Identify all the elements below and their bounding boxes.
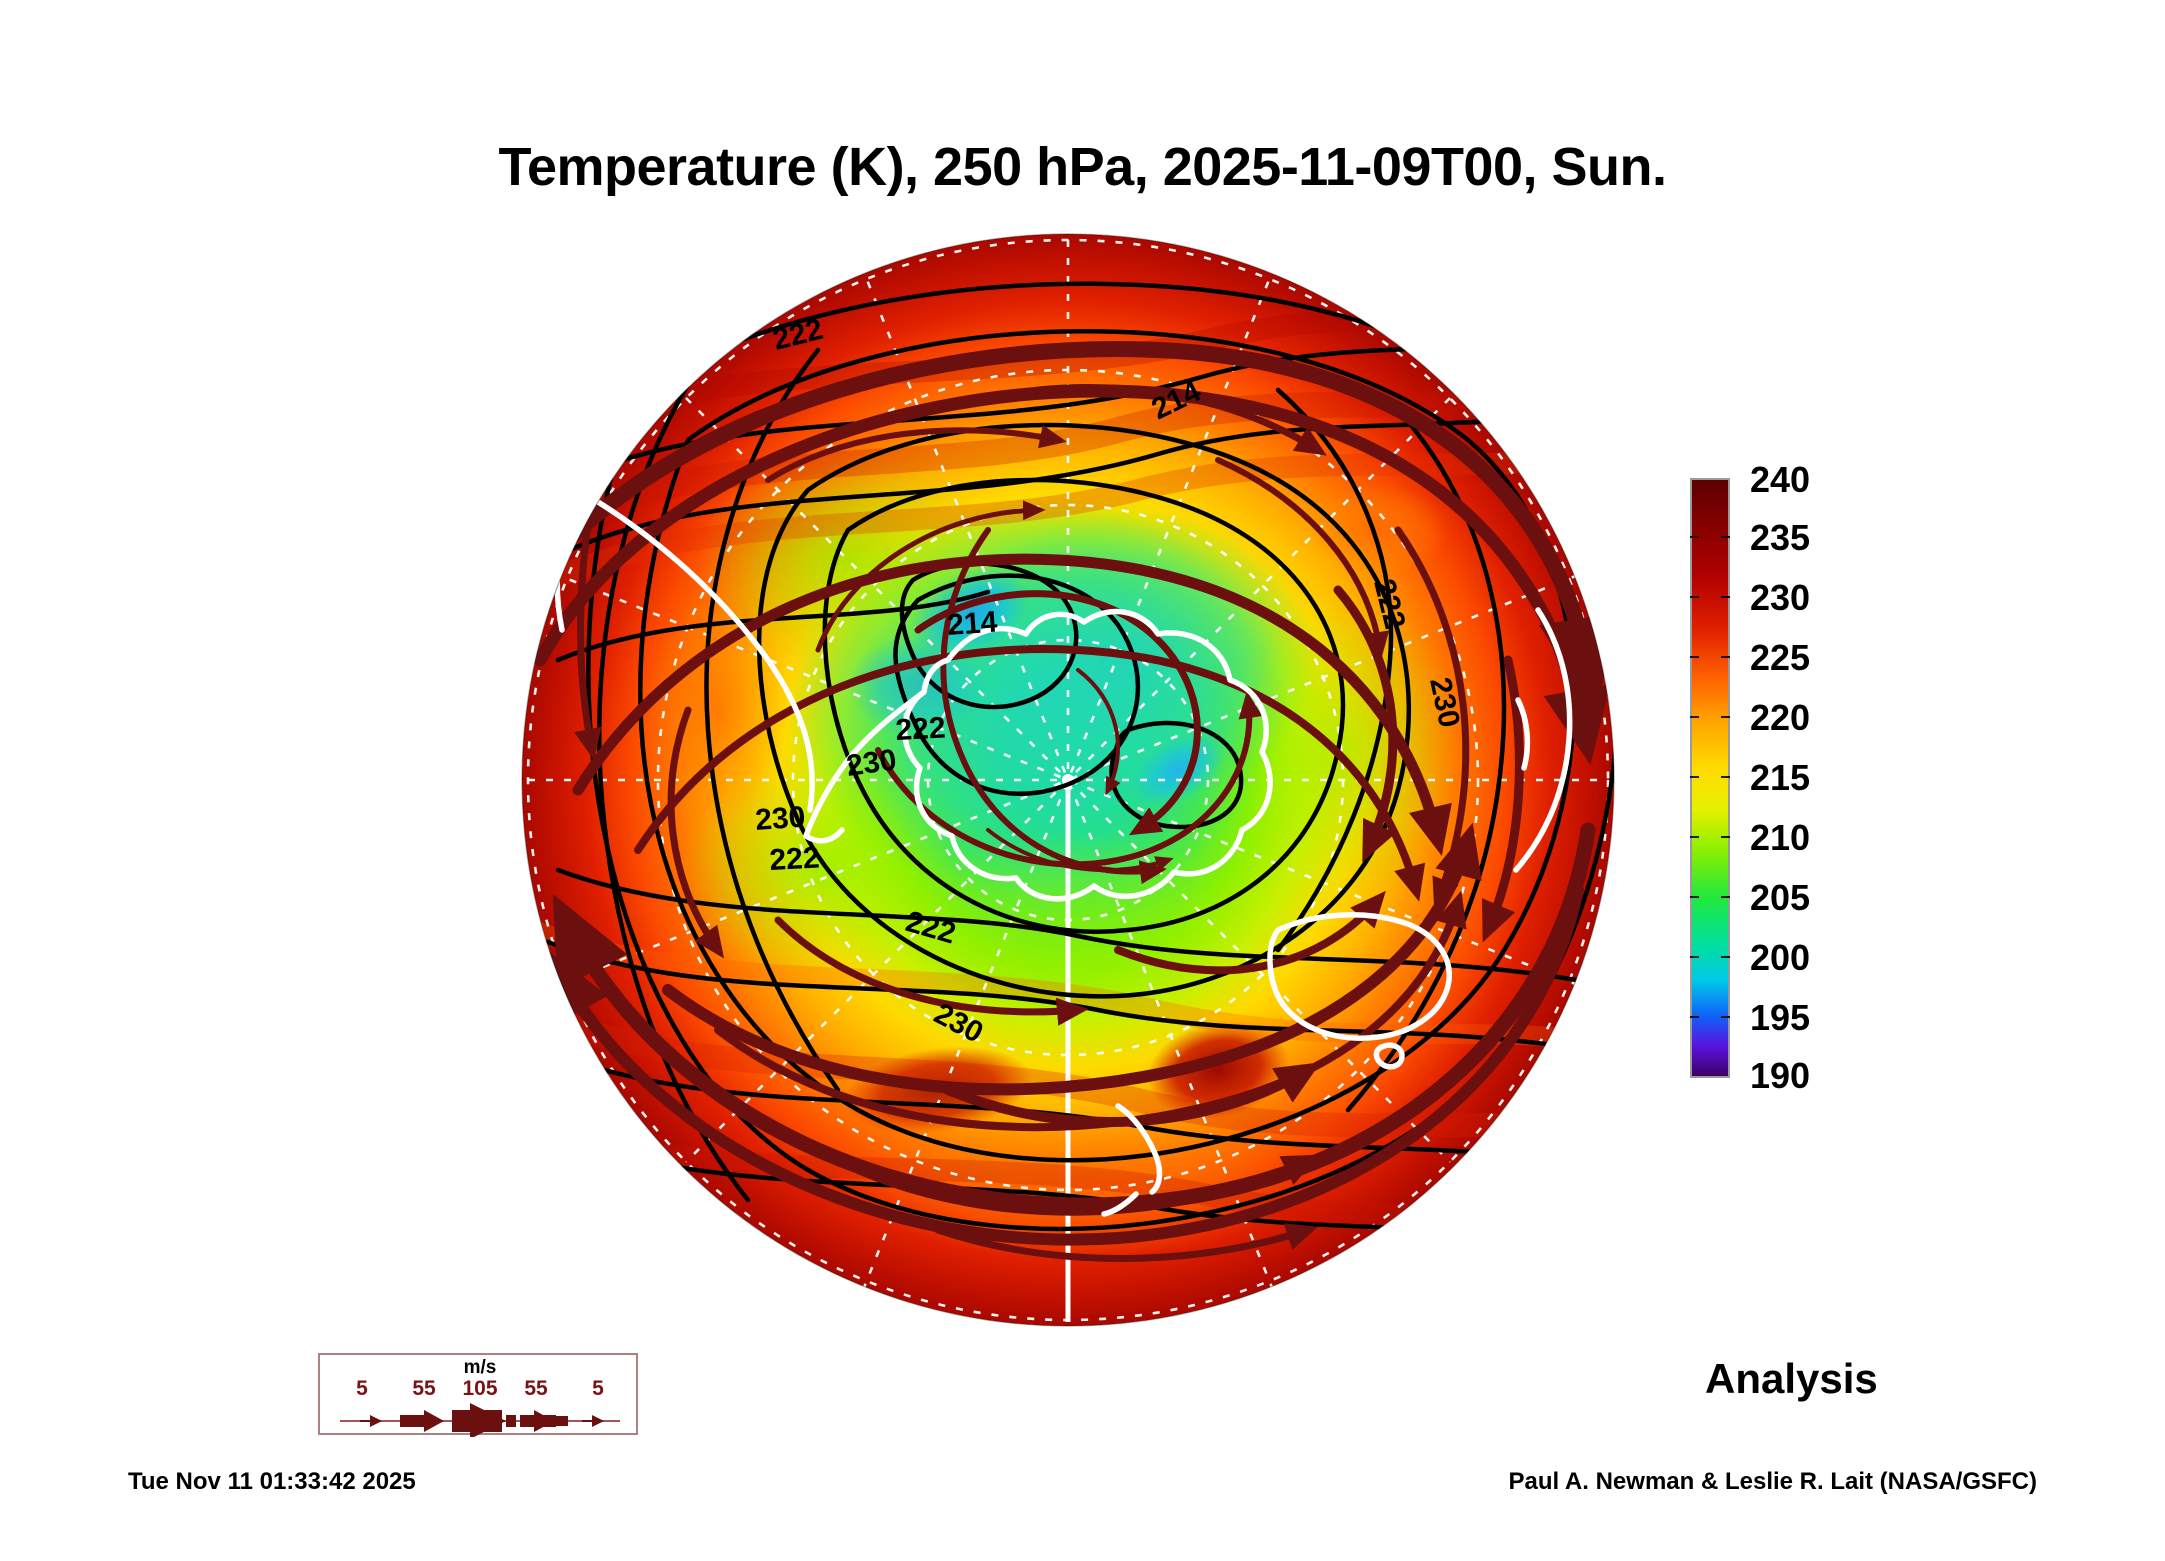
wind-legend-value-105: 105	[462, 1377, 497, 1401]
colorbar-tick-230: 230	[1750, 577, 1810, 619]
svg-text:214: 214	[946, 606, 999, 642]
colorbar-tick-195: 195	[1750, 997, 1810, 1039]
svg-text:222: 222	[769, 841, 821, 877]
wind-legend-value-5-right: 5	[592, 1377, 604, 1401]
author-credit: Paul A. Newman & Leslie R. Lait (NASA/GS…	[1508, 1468, 2037, 1496]
colorbar: 240 235 230 225 220 215 210 205 200 195 …	[1690, 478, 1990, 1088]
generation-timestamp: Tue Nov 11 01:33:42 2025	[128, 1468, 416, 1496]
wind-legend-value-55-right: 55	[524, 1377, 547, 1401]
wind-legend-value-55-left: 55	[412, 1377, 435, 1401]
wind-legend-unit-label: m/s	[320, 1357, 640, 1379]
colorbar-tick-210: 210	[1750, 817, 1810, 859]
colorbar-tick-235: 235	[1750, 517, 1810, 559]
page-title: Temperature (K), 250 hPa, 2025-11-09T00,…	[0, 140, 2165, 194]
colorbar-tick-240: 240	[1750, 459, 1810, 501]
wind-speed-legend: m/s 5 55 105 55 5	[318, 1353, 638, 1435]
colorbar-tick-220: 220	[1750, 697, 1810, 739]
wind-legend-value-5-left: 5	[356, 1377, 368, 1401]
colorbar-tick-225: 225	[1750, 637, 1810, 679]
svg-text:222: 222	[518, 464, 531, 524]
colorbar-tick-190: 190	[1750, 1055, 1810, 1097]
map-field: 230 222 214 222 222 230 214 230 222 230 …	[518, 234, 1618, 1326]
colorbar-gradient	[1690, 478, 1730, 1078]
svg-text:230: 230	[597, 275, 656, 327]
svg-text:230: 230	[754, 801, 806, 837]
svg-text:230: 230	[844, 743, 898, 783]
colorbar-tick-205: 205	[1750, 877, 1810, 919]
colorbar-tick-215: 215	[1750, 757, 1810, 799]
svg-text:222: 222	[895, 711, 947, 747]
polar-temperature-map: 230 222 214 222 222 230 214 230 222 230 …	[518, 230, 1618, 1330]
analysis-label: Analysis	[1705, 1355, 1878, 1403]
colorbar-tick-200: 200	[1750, 937, 1810, 979]
wind-legend-arrows	[320, 1401, 640, 1437]
